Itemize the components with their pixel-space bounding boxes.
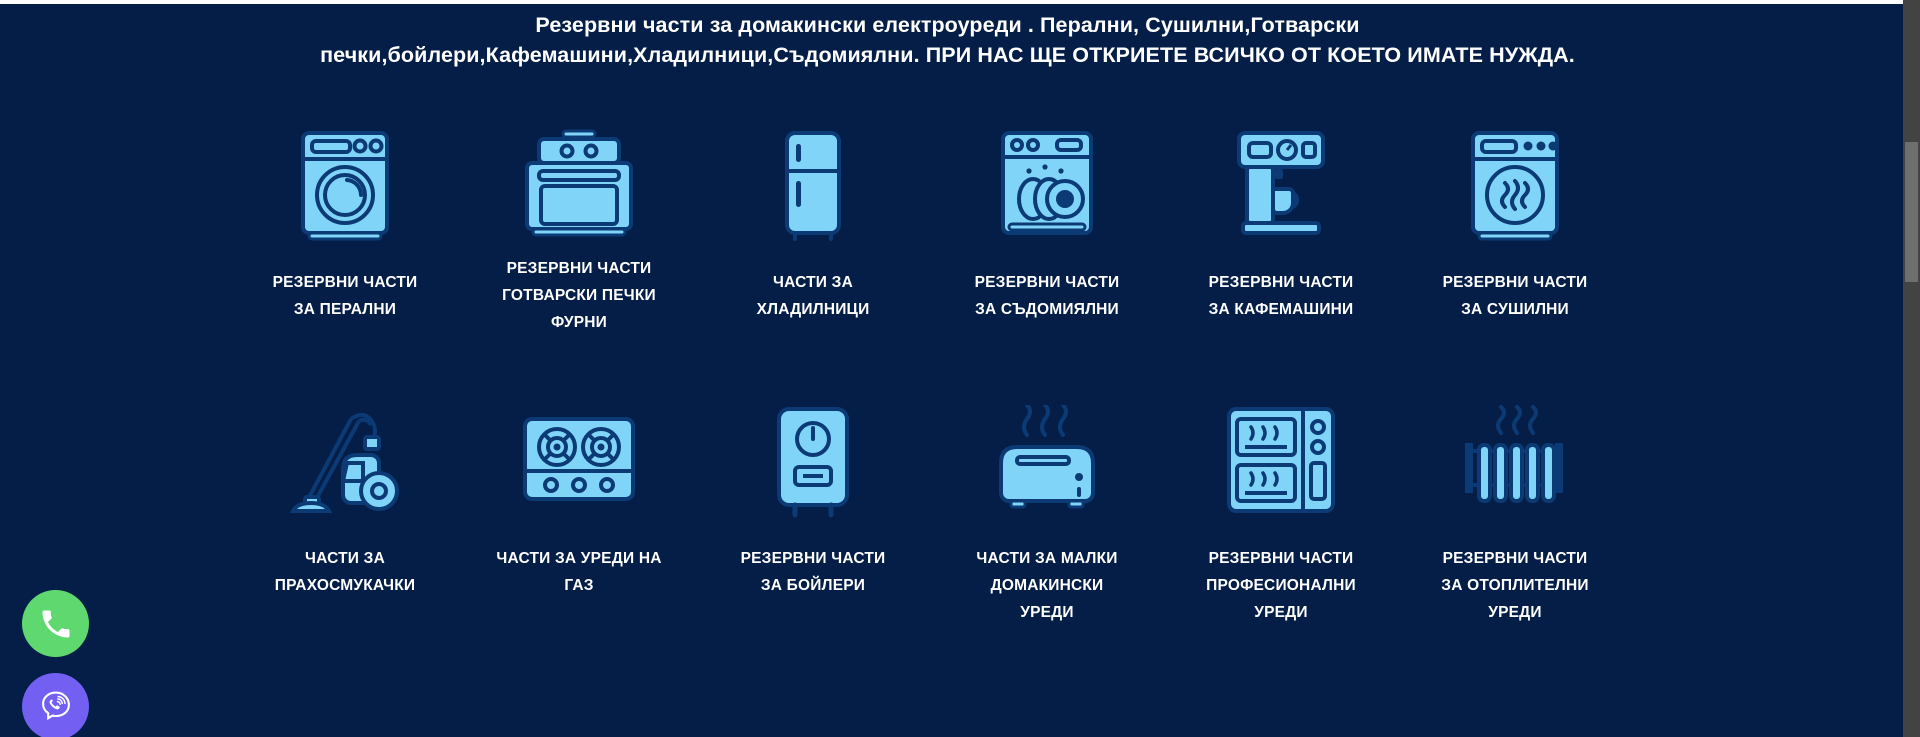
viber-icon <box>38 689 74 725</box>
viber-button[interactable] <box>22 673 89 737</box>
tumble-dryer-icon <box>1465 115 1565 255</box>
category-item-dishwashers[interactable]: РЕЗЕРВНИ ЧАСТИ ЗА СЪДОМИЯЛНИ <box>930 115 1164 323</box>
category-label: РЕЗЕРВНИ ЧАСТИ ЗА СЪДОМИЯЛНИ <box>947 269 1147 323</box>
toaster-icon <box>987 391 1107 531</box>
page-title: Резервни части за домакински електроуред… <box>0 10 1895 70</box>
category-item-professional-appliances[interactable]: РЕЗЕРВНИ ЧАСТИ ПРОФЕСИОНАЛНИ УРЕДИ <box>1164 391 1398 626</box>
water-heater-icon <box>773 391 853 531</box>
category-item-vacuum-cleaners[interactable]: ЧАСТИ ЗА ПРАХОСМУКАЧКИ <box>228 391 462 599</box>
category-label: ЧАСТИ ЗА МАЛКИ ДОМАКИНСКИ УРЕДИ <box>947 545 1147 626</box>
category-item-small-appliances[interactable]: ЧАСТИ ЗА МАЛКИ ДОМАКИНСКИ УРЕДИ <box>930 391 1164 626</box>
category-item-coffee-machines[interactable]: РЕЗЕРВНИ ЧАСТИ ЗА КАФЕМАШИНИ <box>1164 115 1398 323</box>
category-label: РЕЗЕРВНИ ЧАСТИ ЗА ПЕРАЛНИ <box>245 269 445 323</box>
category-label: ЧАСТИ ЗА ХЛАДИЛНИЦИ <box>713 269 913 323</box>
category-row-2: ЧАСТИ ЗА ПРАХОСМУКАЧКИ <box>228 391 1633 626</box>
professional-appliance-icon <box>1223 391 1339 531</box>
oven-stove-icon <box>519 115 639 255</box>
dishwasher-icon <box>995 115 1099 255</box>
coffee-machine-icon <box>1229 115 1333 255</box>
category-label: РЕЗЕРВНИ ЧАСТИ ЗА СУШИЛНИ <box>1415 269 1615 323</box>
phone-call-button[interactable] <box>22 590 89 657</box>
category-item-cookers-ovens[interactable]: РЕЗЕРВНИ ЧАСТИ ГОТВАРСКИ ПЕЧКИ ФУРНИ <box>462 115 696 336</box>
top-white-strip <box>0 0 1920 4</box>
headline-line-2: печки,бойлери,Кафемашини,Хладилници,Съдо… <box>60 40 1835 70</box>
category-row-1: РЕЗЕРВНИ ЧАСТИ ЗА ПЕРАЛНИ <box>228 115 1633 336</box>
category-label: РЕЗЕРВНИ ЧАСТИ ПРОФЕСИОНАЛНИ УРЕДИ <box>1181 545 1381 626</box>
category-label: РЕЗЕРВНИ ЧАСТИ ЗА БОЙЛЕРИ <box>713 545 913 599</box>
page-root: Резервни части за домакински електроуред… <box>0 0 1920 737</box>
category-item-refrigerators[interactable]: ЧАСТИ ЗА ХЛАДИЛНИЦИ <box>696 115 930 323</box>
category-label: РЕЗЕРВНИ ЧАСТИ ГОТВАРСКИ ПЕЧКИ ФУРНИ <box>479 255 679 336</box>
category-item-washing-machines[interactable]: РЕЗЕРВНИ ЧАСТИ ЗА ПЕРАЛНИ <box>228 115 462 323</box>
category-item-tumble-dryers[interactable]: РЕЗЕРВНИ ЧАСТИ ЗА СУШИЛНИ <box>1398 115 1632 323</box>
category-label: РЕЗЕРВНИ ЧАСТИ ЗА КАФЕМАШИНИ <box>1181 269 1381 323</box>
vertical-scrollbar[interactable] <box>1903 0 1920 737</box>
washing-machine-icon <box>295 115 395 255</box>
scrollbar-thumb[interactable] <box>1905 142 1918 282</box>
category-item-water-heaters[interactable]: РЕЗЕРВНИ ЧАСТИ ЗА БОЙЛЕРИ <box>696 391 930 599</box>
phone-icon <box>38 606 74 642</box>
category-item-gas-appliances[interactable]: ЧАСТИ ЗА УРЕДИ НА ГАЗ <box>462 391 696 599</box>
headline-line-1: Резервни части за домакински електроуред… <box>60 10 1835 40</box>
category-grid: РЕЗЕРВНИ ЧАСТИ ЗА ПЕРАЛНИ <box>228 115 1633 626</box>
radiator-icon <box>1457 391 1573 531</box>
gas-hob-icon <box>519 391 639 531</box>
vacuum-cleaner-icon <box>285 391 405 531</box>
category-label: РЕЗЕРВНИ ЧАСТИ ЗА ОТОПЛИТЕЛНИ УРЕДИ <box>1415 545 1615 626</box>
refrigerator-icon <box>775 115 851 255</box>
category-item-heating-appliances[interactable]: РЕЗЕРВНИ ЧАСТИ ЗА ОТОПЛИТЕЛНИ УРЕДИ <box>1398 391 1632 626</box>
category-label: ЧАСТИ ЗА УРЕДИ НА ГАЗ <box>479 545 679 599</box>
category-label: ЧАСТИ ЗА ПРАХОСМУКАЧКИ <box>245 545 445 599</box>
